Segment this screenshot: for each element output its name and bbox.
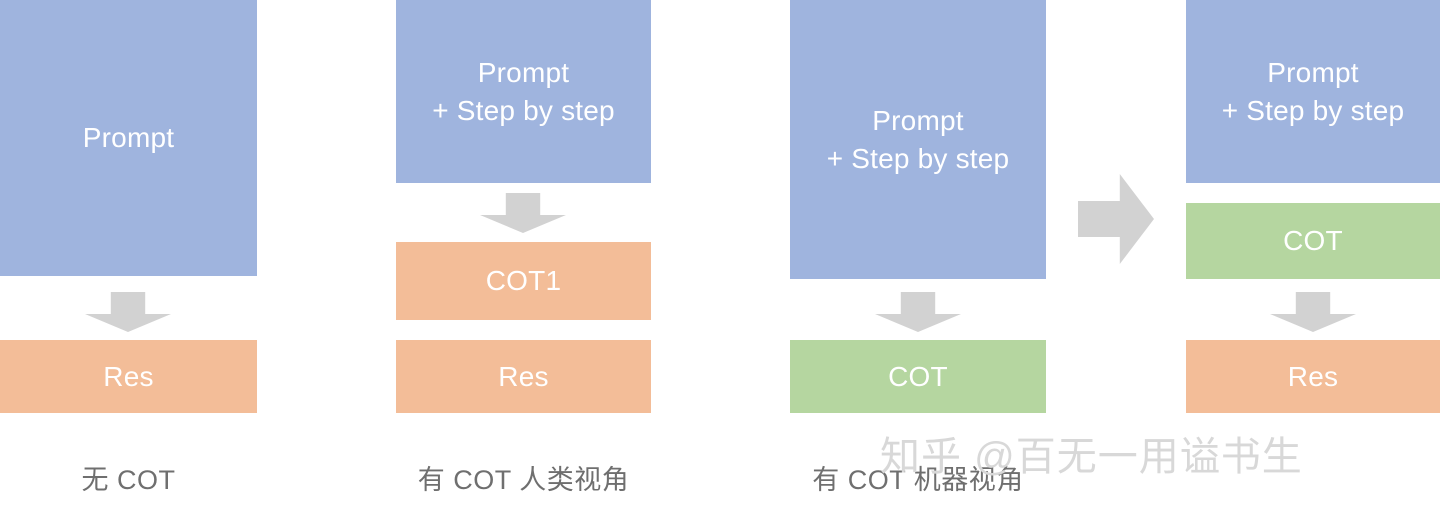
- col2-caption: 有 COT 人类视角: [396, 458, 651, 497]
- connector-arrow-right-icon: [1078, 174, 1154, 264]
- col3-caption: 有 COT 机器视角: [790, 458, 1046, 497]
- col4-res-box: Res: [1186, 340, 1440, 413]
- col2-arrow-down-icon: [480, 193, 566, 233]
- col2-res-box: Res: [396, 340, 651, 413]
- col4-prompt-box: Prompt + Step by step: [1186, 0, 1440, 183]
- col3-cot-box: COT: [790, 340, 1046, 413]
- diagram-canvas: Prompt Res 无 COT Prompt + Step by step C…: [0, 0, 1440, 514]
- col4-arrow-down-icon: [1270, 292, 1356, 332]
- col2-prompt-box: Prompt + Step by step: [396, 0, 651, 183]
- col3-arrow-down-icon: [875, 292, 961, 332]
- col1-caption: 无 COT: [0, 458, 257, 497]
- col2-cot1-box: COT1: [396, 242, 651, 320]
- col1-prompt-box: Prompt: [0, 0, 257, 276]
- col3-prompt-box: Prompt + Step by step: [790, 0, 1046, 279]
- col4-cot-box: COT: [1186, 203, 1440, 279]
- col1-arrow-down-icon: [85, 292, 171, 332]
- col1-res-box: Res: [0, 340, 257, 413]
